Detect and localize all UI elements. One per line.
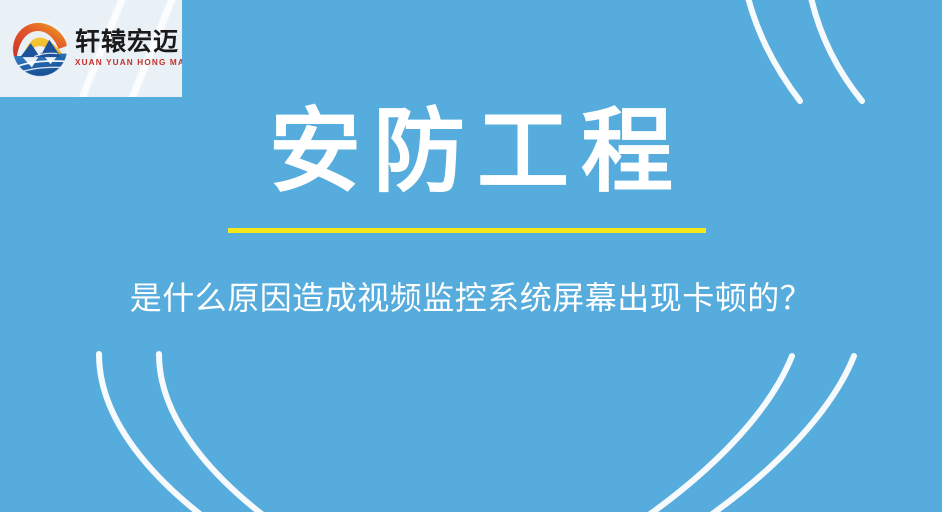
arc-bottom-left-outer-icon [99,354,248,512]
security-engineering-banner: 轩辕宏迈 XUAN YUAN HONG MAI 安防工程 是什么原因造成视频监控… [0,0,942,512]
page-title: 安防工程 [0,103,942,202]
arc-bottom-left-inner-icon [159,354,310,512]
title-divider [228,228,706,233]
page-subtitle: 是什么原因造成视频监控系统屏幕出现卡顿的？ [0,278,942,318]
arc-bottom-right-inner-icon [698,356,854,512]
arc-top-right-outer-icon [742,0,800,101]
company-logo-icon [11,20,69,78]
company-wordmark: 轩辕宏迈 XUAN YUAN HONG MAI [75,30,182,67]
logo-plate: 轩辕宏迈 XUAN YUAN HONG MAI [0,0,182,97]
arc-bottom-right-outer-icon [636,356,792,512]
company-name-pinyin: XUAN YUAN HONG MAI [75,59,182,67]
arc-top-right-inner-icon [806,0,862,101]
company-name-cn: 轩辕宏迈 [75,30,182,55]
